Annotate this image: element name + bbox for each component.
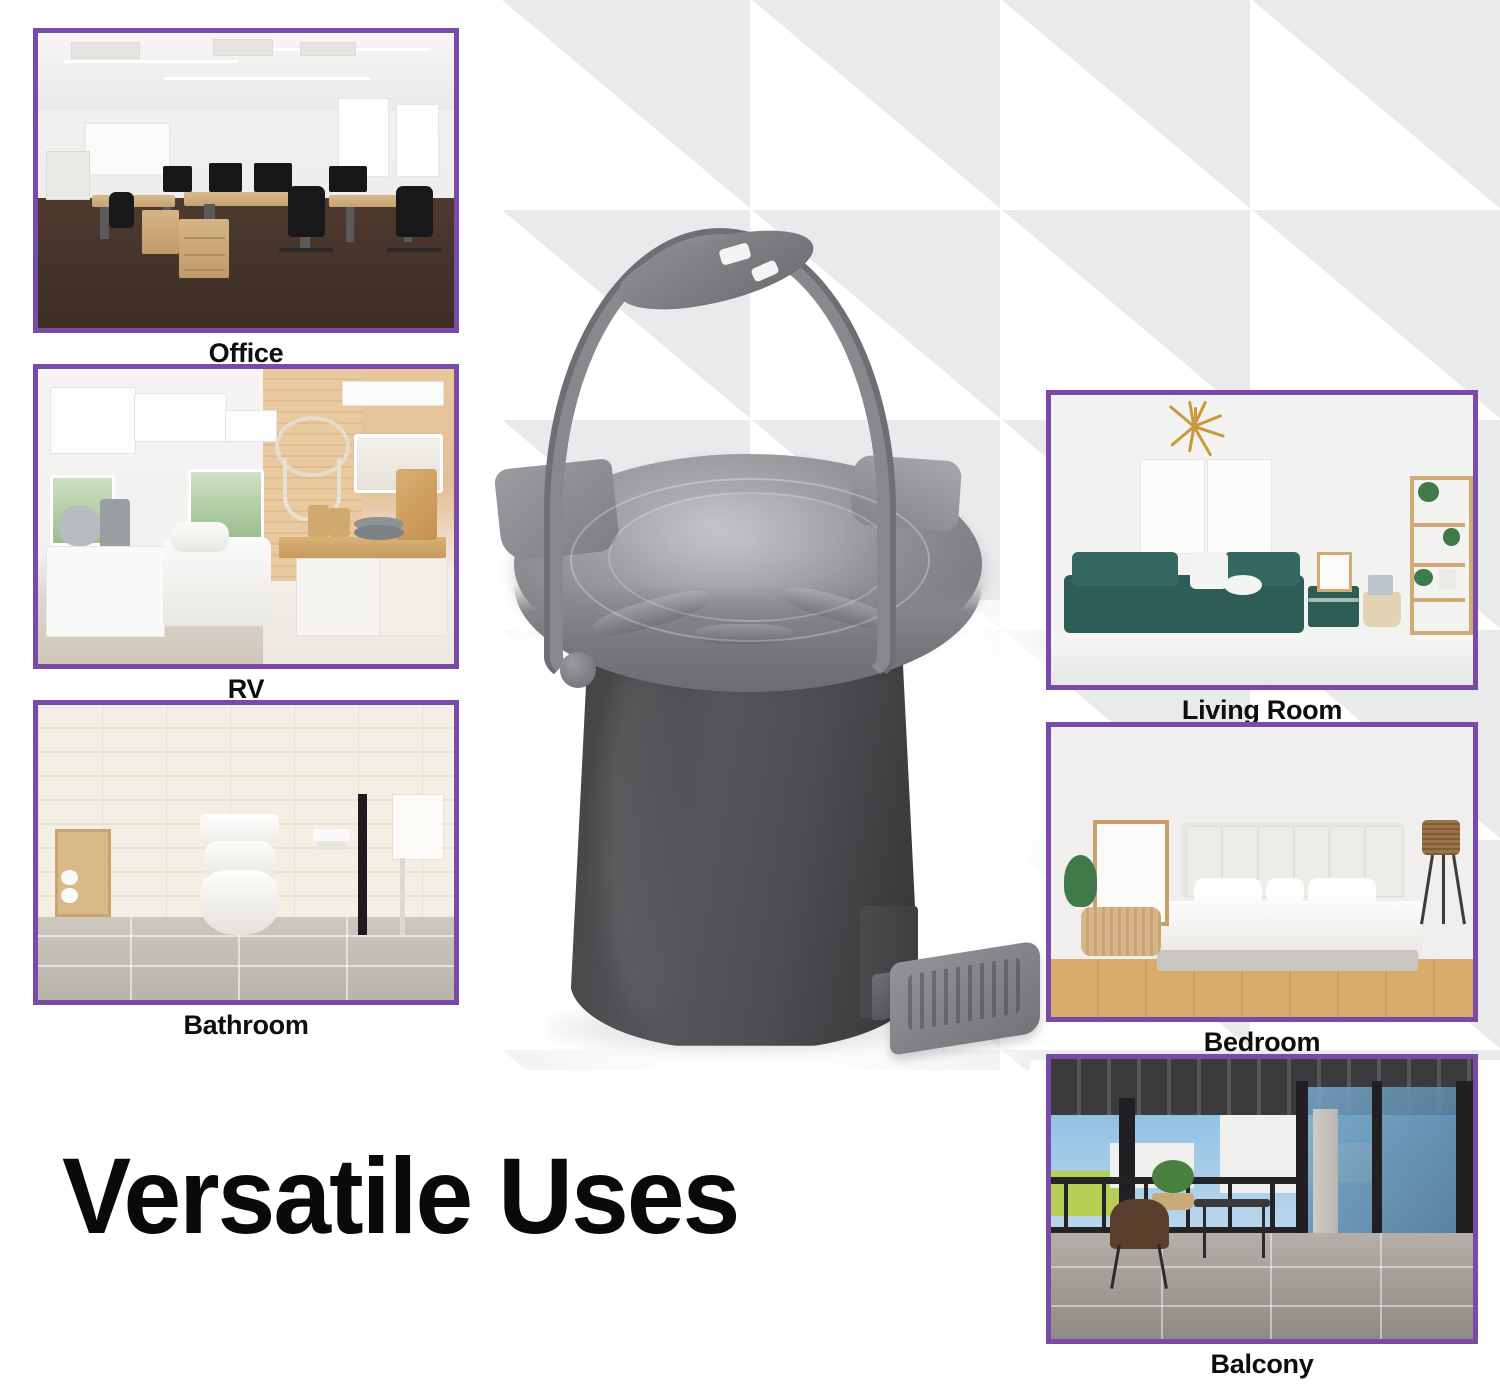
use-case-card-living-room[interactable]: Living Room [1046, 390, 1478, 724]
living-room-photo-frame [1046, 390, 1478, 690]
living-room-caption: Living Room [1046, 697, 1478, 724]
balcony-photo-frame [1046, 1054, 1478, 1344]
office-photo [38, 33, 454, 328]
rv-photo-frame [33, 364, 459, 669]
use-case-card-rv[interactable]: RV [33, 364, 459, 703]
rv-caption: RV [33, 676, 459, 703]
use-case-card-balcony[interactable]: Balcony [1046, 1054, 1478, 1378]
bathroom-photo-frame [33, 700, 459, 1005]
use-case-card-bathroom[interactable]: Bathroom [33, 700, 459, 1039]
bedroom-caption: Bedroom [1046, 1029, 1478, 1056]
use-case-card-office[interactable]: Office [33, 28, 459, 367]
balcony-caption: Balcony [1046, 1351, 1478, 1378]
office-caption: Office [33, 340, 459, 367]
rv-photo [38, 369, 454, 664]
page-title: Versatile Uses [62, 1142, 738, 1250]
product-pedal-dustbin[interactable] [452, 228, 1052, 1088]
balcony-photo [1051, 1059, 1473, 1339]
bathroom-caption: Bathroom [33, 1012, 459, 1039]
bedroom-photo-frame [1046, 722, 1478, 1022]
use-case-card-bedroom[interactable]: Bedroom [1046, 722, 1478, 1056]
infographic-stage: Office [0, 0, 1500, 1399]
bin-handle-pivot [560, 652, 596, 688]
living-room-photo [1051, 395, 1473, 685]
office-photo-frame [33, 28, 459, 333]
bin-body-highlight [602, 658, 688, 1018]
bathroom-photo [38, 705, 454, 1000]
bedroom-photo [1051, 727, 1473, 1017]
